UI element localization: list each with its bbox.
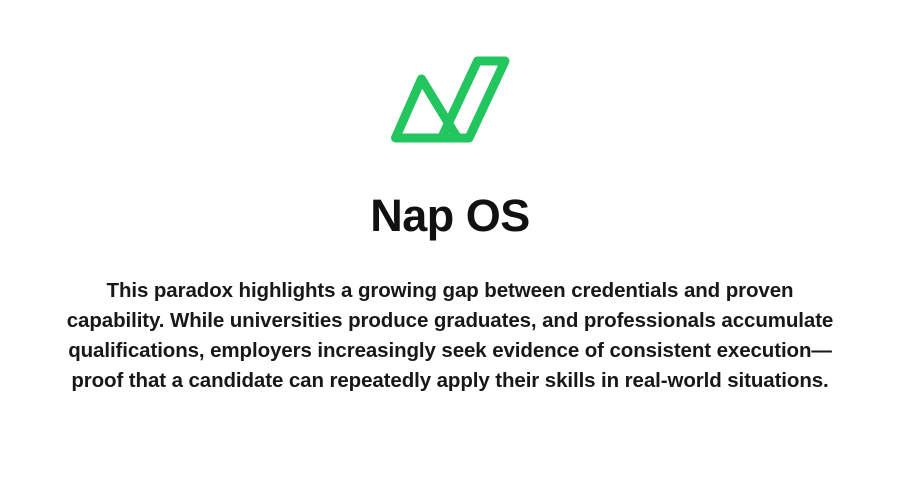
page-title: Nap OS [0,192,900,239]
body-line: This paradox highlights a growing gap be… [55,276,845,306]
body-line: capability. While universities produce g… [55,306,845,336]
body-line: proof that a candidate can repeatedly ap… [55,366,845,396]
body-line: qualifications, employers increasingly s… [55,336,845,366]
slide-root: Nap OS This paradox highlights a growing… [0,0,900,500]
nap-os-logo [385,52,515,147]
nap-os-logo-icon [385,52,515,147]
body-paragraph: This paradox highlights a growing gap be… [55,276,845,396]
